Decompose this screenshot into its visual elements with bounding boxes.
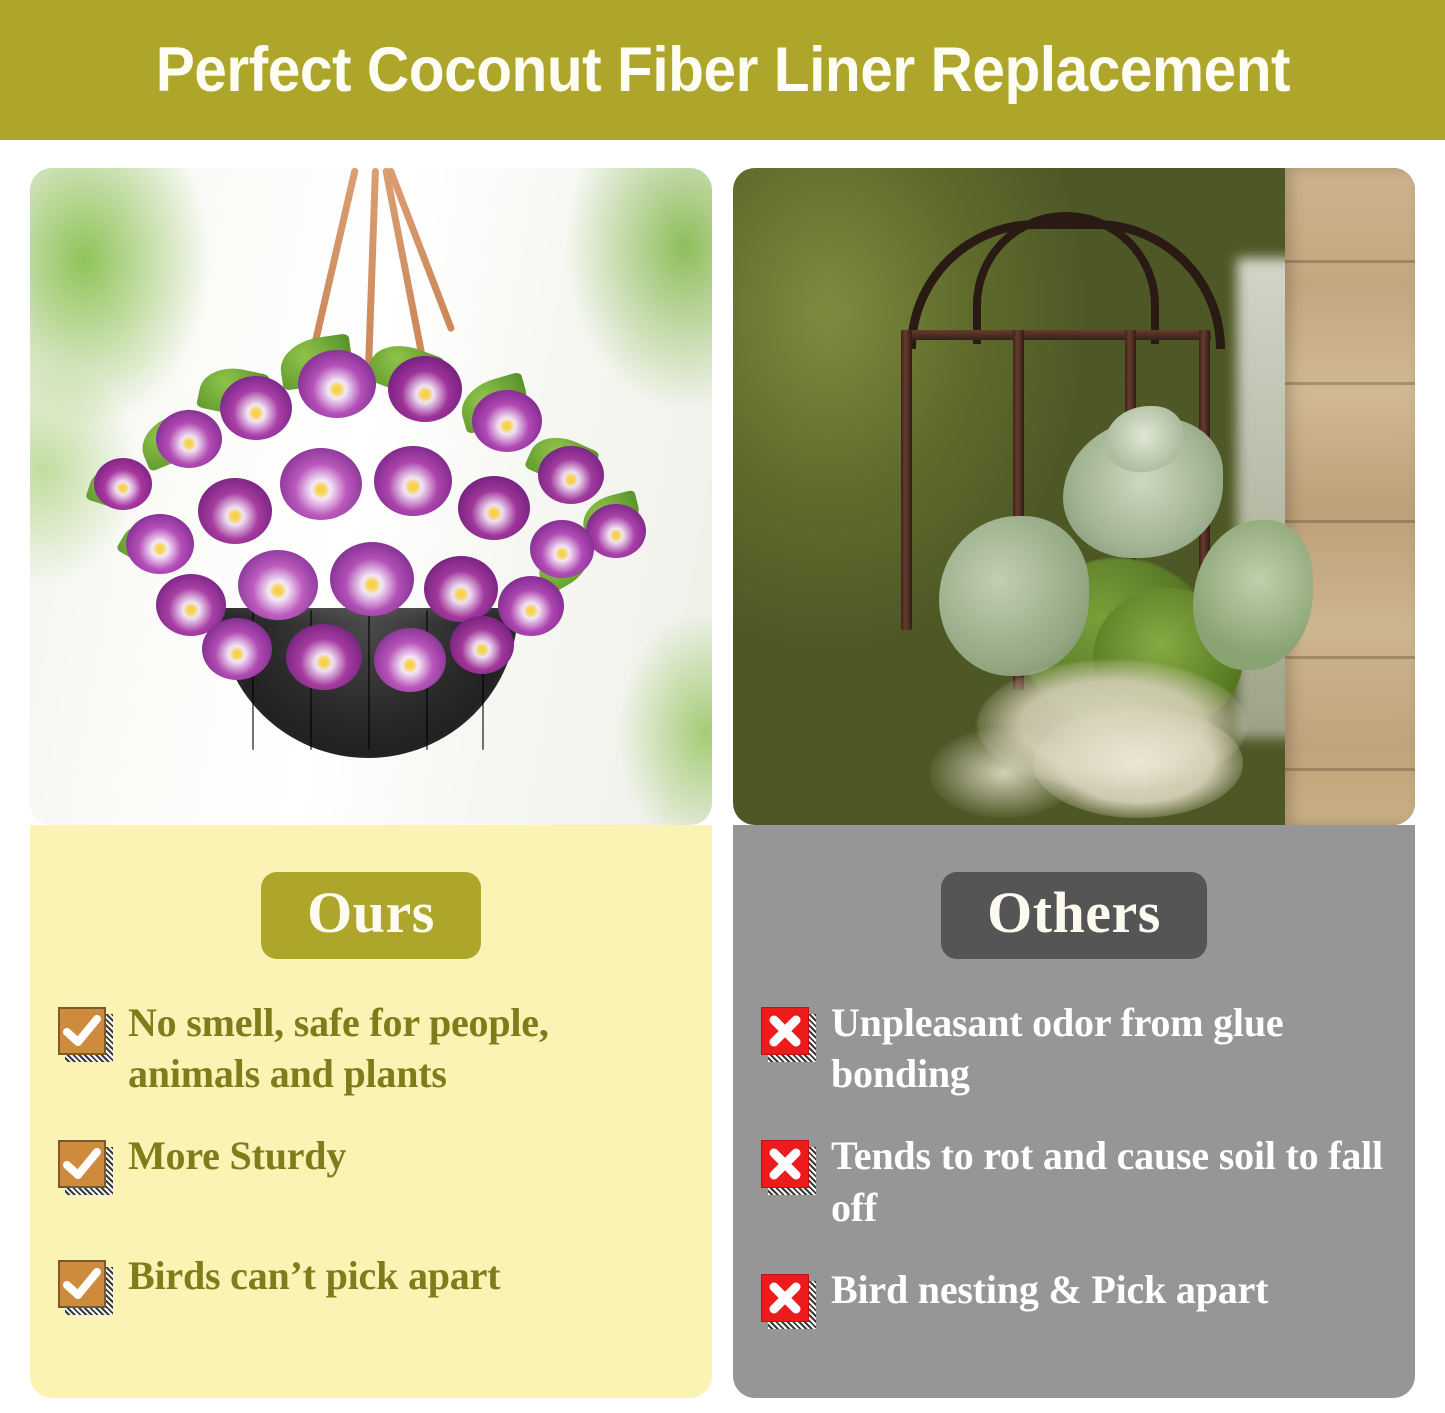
badge-row-others: Others <box>733 825 1415 959</box>
page-title: Perfect Coconut Fiber Liner Replacement <box>155 39 1289 102</box>
badge-others: Others <box>941 872 1207 959</box>
cross-icon <box>761 1007 809 1055</box>
feature-label: Tends to rot and cause soil to fall off <box>831 1130 1389 1232</box>
list-item: Tends to rot and cause soil to fall off <box>733 1130 1415 1232</box>
feature-list-others: Unpleasant odor from glue bonding Tends … <box>733 959 1415 1322</box>
dried-roots <box>929 728 1079 818</box>
list-item: Unpleasant odor from glue bonding <box>733 997 1415 1099</box>
feature-list-ours: No smell, safe for people, animals and p… <box>30 959 712 1308</box>
feature-label: No smell, safe for people, animals and p… <box>128 997 686 1099</box>
cross-icon <box>761 1274 809 1322</box>
list-item: No smell, safe for people, animals and p… <box>30 997 712 1099</box>
pansy-foliage <box>30 298 712 658</box>
check-icon <box>58 1007 106 1055</box>
photo-others <box>733 168 1415 825</box>
list-item: More Sturdy <box>30 1130 712 1188</box>
badge-ours: Ours <box>261 872 481 959</box>
column-ours: Ours No smell, safe for people, animals … <box>30 168 712 1398</box>
photo-ours <box>30 168 712 825</box>
feature-label: Bird nesting & Pick apart <box>831 1264 1268 1315</box>
stone-wall <box>1285 168 1415 825</box>
panel-others: Others Unpleasant odor from glue bonding <box>733 825 1415 1398</box>
silver-foliage <box>939 516 1089 676</box>
header-banner: Perfect Coconut Fiber Liner Replacement <box>0 0 1445 140</box>
list-item: Birds can’t pick apart <box>30 1250 712 1308</box>
cross-icon <box>761 1140 809 1188</box>
column-others: Others Unpleasant odor from glue bonding <box>733 168 1415 1398</box>
feature-label: Birds can’t pick apart <box>128 1250 500 1301</box>
check-icon <box>58 1140 106 1188</box>
comparison-container: Ours No smell, safe for people, animals … <box>30 168 1415 1398</box>
check-icon <box>58 1260 106 1308</box>
list-item: Bird nesting & Pick apart <box>733 1264 1415 1322</box>
feature-label: More Sturdy <box>128 1130 346 1181</box>
badge-row-ours: Ours <box>30 825 712 959</box>
panel-ours: Ours No smell, safe for people, animals … <box>30 825 712 1398</box>
feature-label: Unpleasant odor from glue bonding <box>831 997 1389 1099</box>
